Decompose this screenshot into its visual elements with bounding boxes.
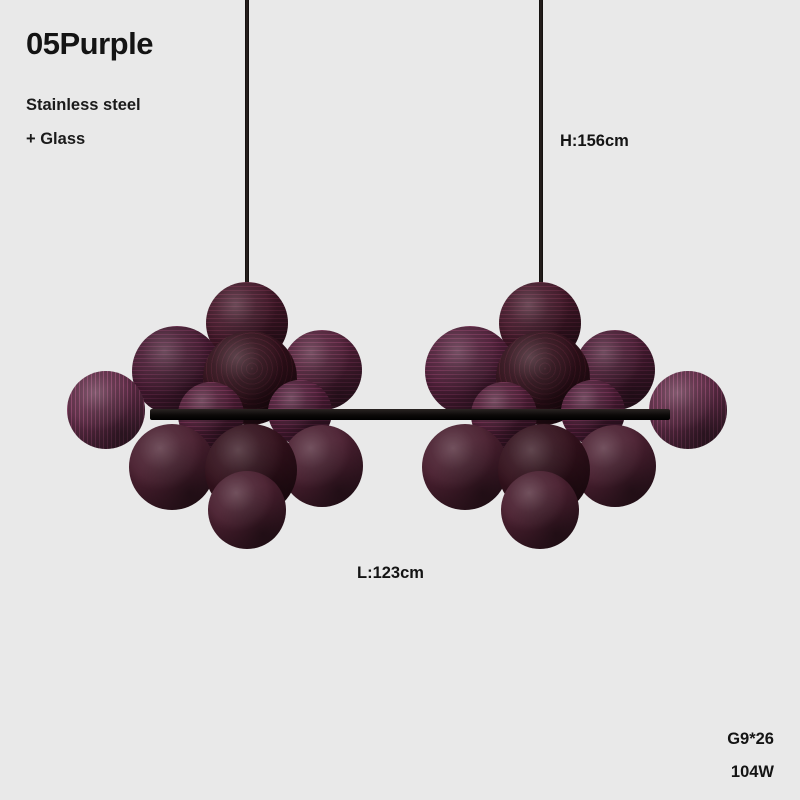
left-cord [245, 0, 249, 300]
page-title: 05Purple [26, 28, 153, 59]
glass-globe-left-7 [129, 424, 215, 510]
wattage-spec-label: 104W [731, 764, 774, 781]
product-image-stage: 05Purple Stainless steel + Glass H:156cm… [0, 0, 800, 800]
center-rod [150, 409, 670, 420]
right-cord [539, 0, 543, 300]
material-line-2: + Glass [26, 131, 85, 148]
bulb-spec-label: G9*26 [727, 731, 774, 748]
material-line-1: Stainless steel [26, 97, 141, 114]
glass-globe-right-21 [501, 471, 579, 549]
length-dimension-label: L:123cm [357, 565, 424, 582]
height-dimension-label: H:156cm [560, 133, 629, 150]
glass-globe-right-18 [422, 424, 508, 510]
glass-globe-left-4 [67, 371, 145, 449]
glass-globe-left-10 [208, 471, 286, 549]
